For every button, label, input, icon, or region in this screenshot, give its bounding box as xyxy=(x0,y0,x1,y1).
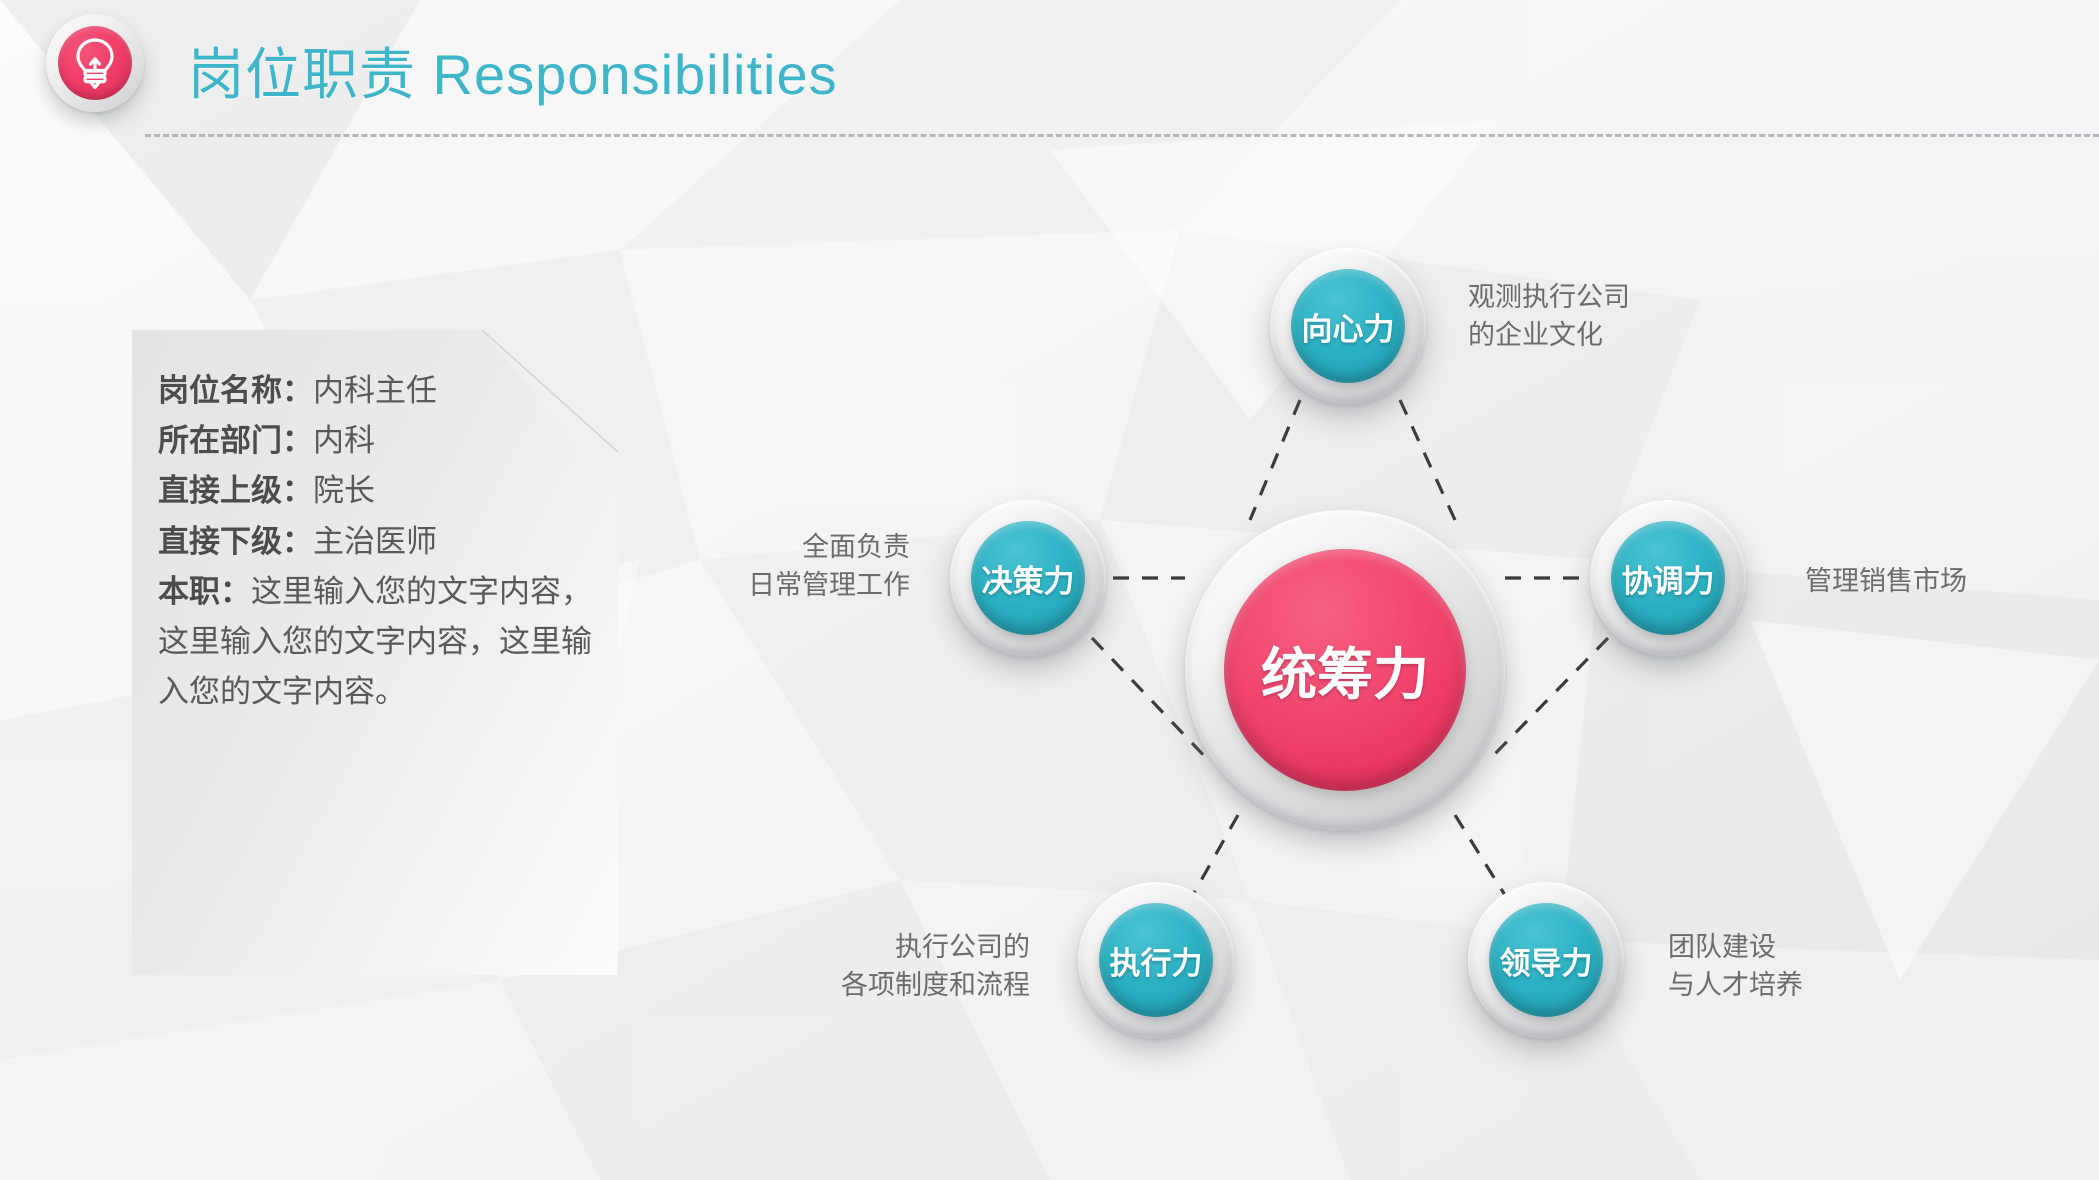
diagram-caption-xietiaoli: 管理销售市场 xyxy=(1805,562,2099,600)
diagram-caption-lingdaoli: 团队建设 与人才培养 xyxy=(1668,928,1968,1005)
node-disc: 领导力 xyxy=(1489,903,1603,1017)
diagram-center-node[interactable]: 统筹力 xyxy=(1185,510,1505,830)
node-label: 决策力 xyxy=(982,556,1075,601)
diagram-node-zhixingli[interactable]: 执行力 xyxy=(1078,882,1234,1038)
node-disc: 统筹力 xyxy=(1224,549,1466,791)
node-label: 执行力 xyxy=(1110,938,1203,983)
node-disc: 协调力 xyxy=(1611,521,1725,635)
diagram-caption-zhixingli: 执行公司的 各项制度和流程 xyxy=(740,928,1030,1005)
diagram-node-juiceli[interactable]: 决策力 xyxy=(950,500,1106,656)
slide-canvas: 岗位职责 Responsibilities 岗位名称：内科主任 所在部门：内科 … xyxy=(0,0,2099,1180)
diagram-node-xietiaoli[interactable]: 协调力 xyxy=(1590,500,1746,656)
diagram-caption-xiangxinli: 观测执行公司 的企业文化 xyxy=(1468,278,1768,355)
node-label: 协调力 xyxy=(1622,556,1715,601)
node-disc: 向心力 xyxy=(1291,269,1405,383)
responsibility-diagram: 统筹力 向心力 观测执行公司 的企业文化 协调力 管理销售市场 领导力 团队建设 xyxy=(0,0,2099,1180)
node-label: 统筹力 xyxy=(1261,630,1429,711)
node-label: 领导力 xyxy=(1500,938,1593,983)
node-label: 向心力 xyxy=(1302,304,1395,349)
diagram-caption-juiceli: 全面负责 日常管理工作 xyxy=(620,528,910,605)
node-disc: 决策力 xyxy=(971,521,1085,635)
node-disc: 执行力 xyxy=(1099,903,1213,1017)
diagram-node-xiangxinli[interactable]: 向心力 xyxy=(1270,248,1426,404)
diagram-node-lingdaoli[interactable]: 领导力 xyxy=(1468,882,1624,1038)
